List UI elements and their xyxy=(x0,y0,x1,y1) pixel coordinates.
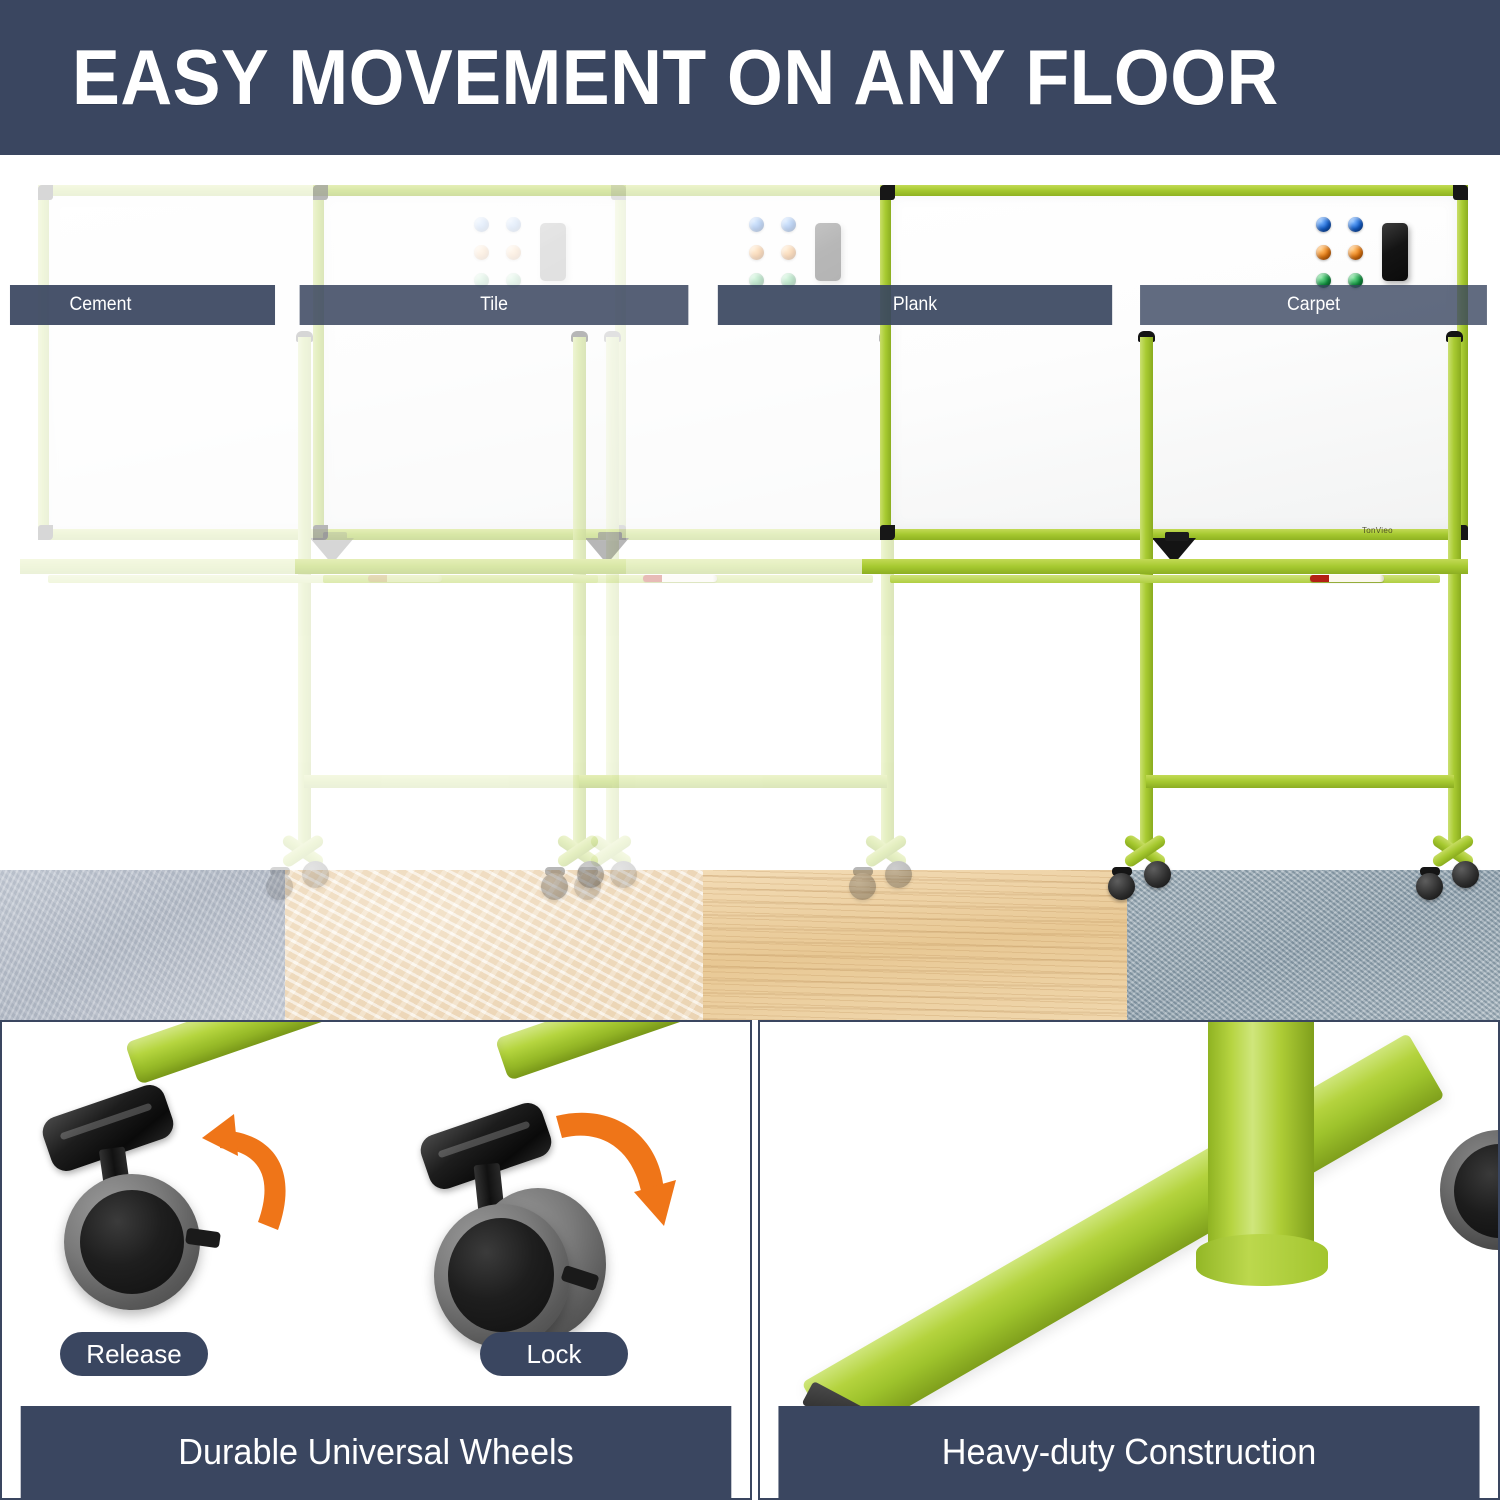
feature-panels: Release Lock Durable Universal Wheels xyxy=(0,1020,1500,1500)
caption-durable-universal-wheels: Durable Universal Wheels xyxy=(21,1406,732,1498)
frame-rail-left xyxy=(880,185,891,540)
caster-wheel xyxy=(577,861,604,888)
caster-wheel xyxy=(849,873,876,900)
frame-rail-top xyxy=(880,185,1468,196)
magnet-icon xyxy=(1316,217,1331,232)
frame-rail-left xyxy=(313,185,324,540)
base-beam xyxy=(802,1033,1445,1447)
caster-wheel xyxy=(541,873,568,900)
panel-durable-universal-wheels: Release Lock Durable Universal Wheels xyxy=(0,1020,752,1500)
corner-bracket-icon xyxy=(880,185,895,200)
weld-joint xyxy=(1196,1234,1328,1286)
panel-heavy-duty-construction: Heavy-duty Construction xyxy=(758,1020,1500,1500)
caster-tread xyxy=(448,1218,554,1332)
badge-lock: Lock xyxy=(480,1332,628,1376)
marker-pen xyxy=(643,575,717,582)
stand-post-right xyxy=(1448,337,1461,845)
board-frame xyxy=(313,185,901,540)
board-pivot-cap xyxy=(1165,532,1189,541)
green-tube xyxy=(495,1020,752,1081)
magnet-icon xyxy=(781,217,796,232)
corner-bracket-icon xyxy=(38,525,53,540)
floor-label-tile: Tile xyxy=(300,285,689,325)
floor-label-carpet: Carpet xyxy=(1140,285,1487,325)
magnet-icon xyxy=(749,245,764,260)
eraser-block xyxy=(815,223,841,281)
caster-wheel xyxy=(1144,861,1171,888)
magnet-icon xyxy=(749,217,764,232)
caster-wheel xyxy=(1452,861,1479,888)
corner-bracket-icon xyxy=(1453,185,1468,200)
corner-bracket-icon xyxy=(313,185,328,200)
caster-wheel xyxy=(266,873,293,900)
stand-post-left xyxy=(573,337,586,845)
whiteboard-primary: TonVieo xyxy=(880,155,1500,915)
magnet-icon xyxy=(1348,245,1363,260)
magnet-icon xyxy=(1348,217,1363,232)
caster-wheel xyxy=(1108,873,1135,900)
header-banner: EASY MOVEMENT ON ANY FLOOR xyxy=(0,0,1500,155)
floor-label-plank: Plank xyxy=(718,285,1112,325)
stand-post-left xyxy=(1140,337,1153,845)
board-pivot-cap xyxy=(598,532,622,541)
stand-crossbar-lower xyxy=(579,775,887,788)
stand-post-left xyxy=(298,337,311,845)
floor-label-bar: Cement Tile Plank Carpet xyxy=(0,285,1500,325)
caption-heavy-duty-construction: Heavy-duty Construction xyxy=(778,1406,1479,1498)
stand-crossbar-lower xyxy=(1146,775,1454,788)
board-frame: TonVieo xyxy=(880,185,1468,540)
rotate-arrow-icon xyxy=(548,1096,688,1236)
corner-bracket-icon xyxy=(38,185,53,200)
caster-tread xyxy=(80,1190,184,1294)
page-title: EASY MOVEMENT ON ANY FLOOR xyxy=(72,32,1279,123)
pen-tray xyxy=(323,575,873,583)
magnet-icon xyxy=(1316,245,1331,260)
stand-crossbar-upper xyxy=(862,559,1468,574)
frame-rail-left xyxy=(38,185,49,540)
stand-crossbar-upper xyxy=(295,559,901,574)
magnet-cluster xyxy=(1316,217,1426,291)
whiteboard-ghost-2 xyxy=(313,155,937,915)
infographic-page: EASY MOVEMENT ON ANY FLOOR Cement Tile P… xyxy=(0,0,1500,1500)
magnet-cluster xyxy=(749,217,859,291)
frame-rail-top xyxy=(313,185,901,196)
marker-pen xyxy=(1310,575,1384,582)
green-tube xyxy=(125,1020,451,1085)
corner-bracket-icon xyxy=(880,525,895,540)
badge-release: Release xyxy=(60,1332,208,1376)
eraser-block xyxy=(1382,223,1408,281)
floor-label-cement: Cement xyxy=(10,285,275,325)
hero-scene: Cement Tile Plank Carpet xyxy=(0,155,1500,1020)
caster-wheel xyxy=(1416,873,1443,900)
brand-logo: TonVieo xyxy=(1362,526,1393,535)
rotate-arrow-icon xyxy=(182,1112,312,1242)
magnet-icon xyxy=(781,245,796,260)
corner-bracket-icon xyxy=(313,525,328,540)
